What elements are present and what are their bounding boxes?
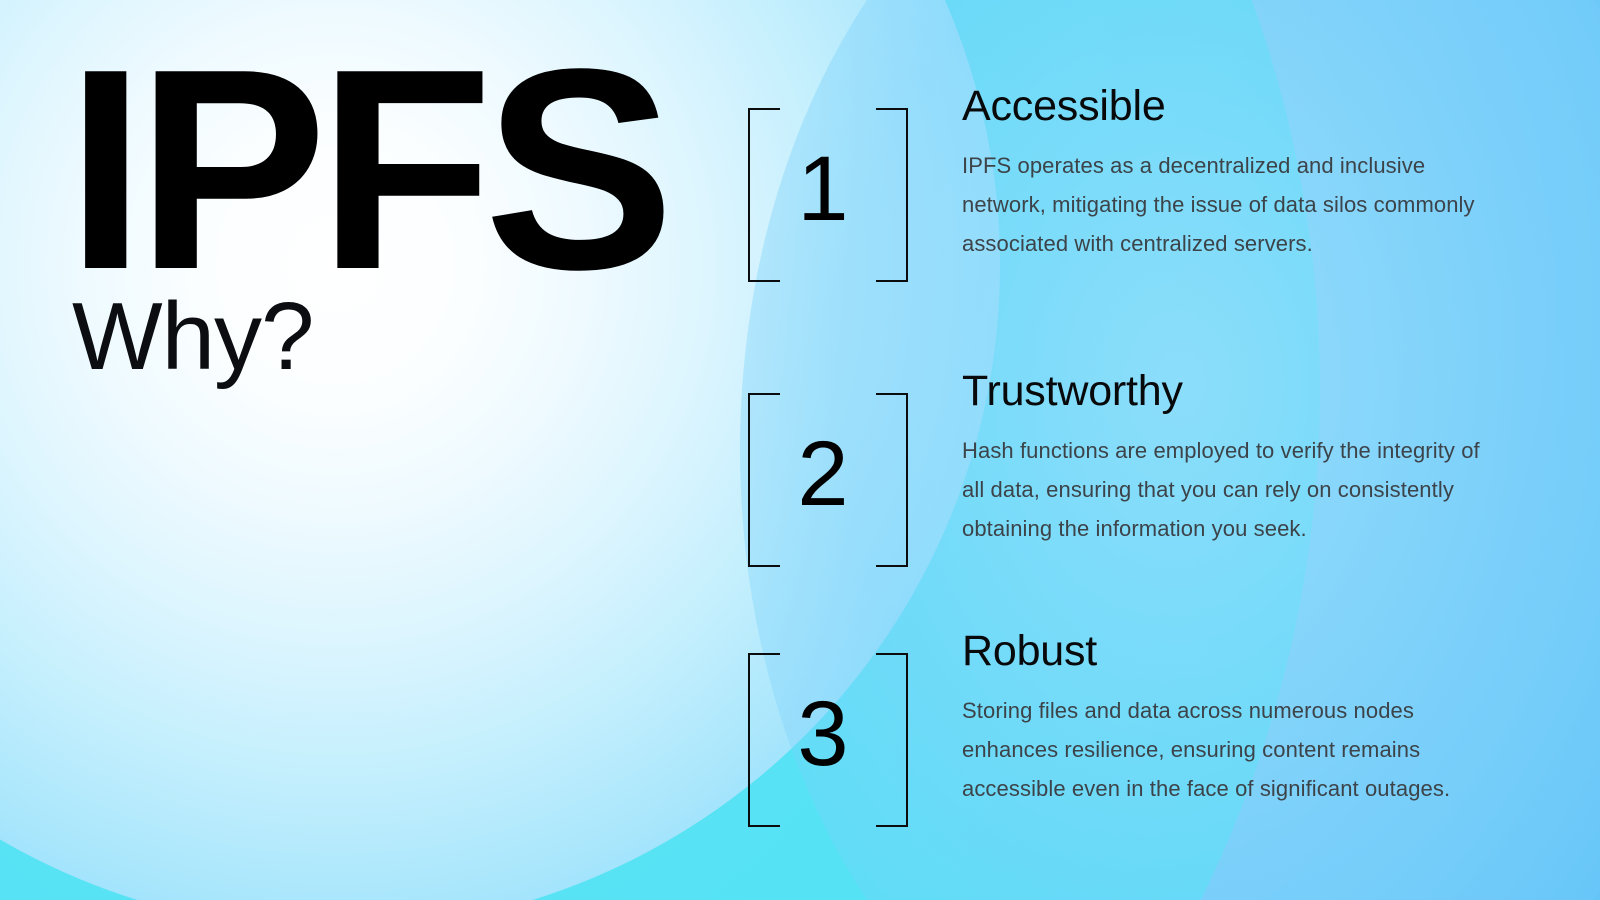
item-title: Accessible <box>962 84 1502 129</box>
item-text-block: Accessible IPFS operates as a decentrali… <box>916 84 1502 264</box>
bracket-right-icon <box>876 393 908 567</box>
list-item-trustworthy: 2 Trustworthy Hash functions are employe… <box>730 369 1502 567</box>
item-description: Storing files and data across numerous n… <box>962 691 1502 808</box>
item-description: IPFS operates as a decentralized and inc… <box>962 146 1502 263</box>
list-item-robust: 3 Robust Storing files and data across n… <box>730 629 1502 827</box>
benefits-list: 1 Accessible IPFS operates as a decentra… <box>730 0 1520 900</box>
number-badge-3: 3 <box>730 629 916 827</box>
item-text-block: Trustworthy Hash functions are employed … <box>916 369 1502 549</box>
slide-canvas: IPFS Why? 1 Accessible IPFS operates as … <box>0 0 1600 900</box>
item-text-block: Robust Storing files and data across num… <box>916 629 1502 809</box>
item-description: Hash functions are employed to verify th… <box>962 431 1502 548</box>
item-number: 2 <box>797 428 848 520</box>
item-number: 1 <box>797 143 848 235</box>
bracket-left-icon <box>748 653 780 827</box>
item-number: 3 <box>797 688 848 780</box>
page-title: IPFS <box>66 52 686 287</box>
item-title: Robust <box>962 629 1502 674</box>
brand-block: IPFS Why? <box>66 52 686 387</box>
number-badge-1: 1 <box>730 84 916 282</box>
list-item-accessible: 1 Accessible IPFS operates as a decentra… <box>730 84 1502 282</box>
bracket-right-icon <box>876 653 908 827</box>
item-title: Trustworthy <box>962 369 1502 414</box>
number-badge-2: 2 <box>730 369 916 567</box>
bracket-right-icon <box>876 108 908 282</box>
bracket-left-icon <box>748 393 780 567</box>
bracket-left-icon <box>748 108 780 282</box>
